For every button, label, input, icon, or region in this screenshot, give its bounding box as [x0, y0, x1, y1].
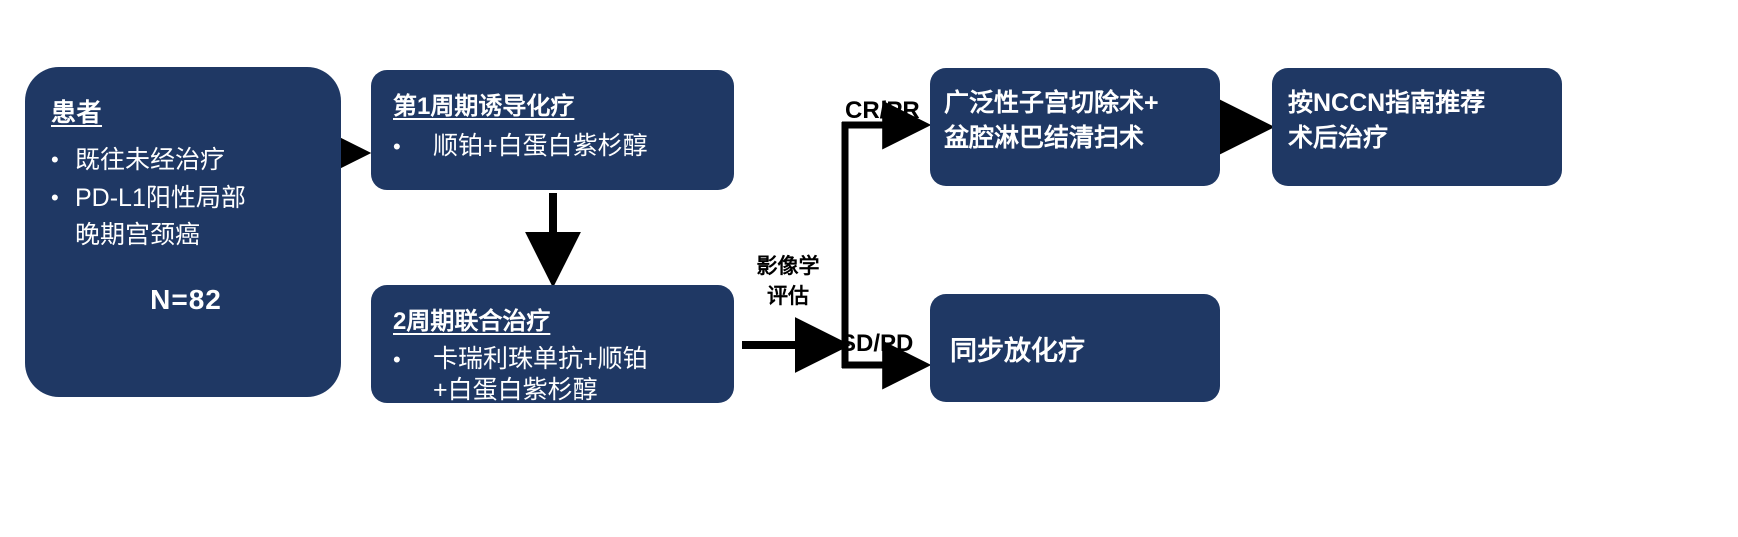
bullet-marker-icon: • — [393, 131, 433, 158]
list-item-label: PD-L1阳性局部 — [75, 181, 321, 217]
node-combination-title: 2周期联合治疗 — [393, 301, 724, 336]
node-patient-title: 患者 — [51, 93, 321, 129]
list-item-label-line1: 卡瑞利珠单抗+顺铂 — [433, 345, 648, 373]
node-patient-criteria-list: • 既往未经治疗 • PD-L1阳性局部 晚期宫颈癌 — [51, 143, 321, 254]
node-nccn-adjuvant-line2: 术后治疗 — [1288, 121, 1552, 156]
list-item-label: 卡瑞利珠单抗+顺铂 +白蛋白紫杉醇 — [433, 344, 724, 405]
list-item: • 既往未经治疗 — [51, 143, 321, 179]
node-patient-population: 患者 • 既往未经治疗 • PD-L1阳性局部 晚期宫颈癌 N=82 — [25, 67, 341, 397]
node-nccn-adjuvant-line1: 按NCCN指南推荐 — [1288, 86, 1552, 121]
node-radical-surgery: 广泛性子宫切除术+ 盆腔淋巴结清扫术 — [930, 68, 1220, 186]
list-item-label: 既往未经治疗 — [75, 143, 321, 179]
list-item: • 顺铂+白蛋白紫杉醇 — [393, 131, 720, 161]
bullet-marker-icon: • — [393, 344, 433, 371]
list-item: • PD-L1阳性局部 — [51, 181, 321, 217]
node-combination-therapy: 2周期联合治疗 • 卡瑞利珠单抗+顺铂 +白蛋白紫杉醇 — [371, 285, 734, 403]
edge-label-sd-pd: SD/PD — [840, 330, 913, 358]
flowchart-canvas: 患者 • 既往未经治疗 • PD-L1阳性局部 晚期宫颈癌 N=82 第1周期诱… — [0, 0, 1738, 537]
edge-label-imaging-line2: 评估 — [746, 282, 830, 312]
node-nccn-adjuvant-therapy: 按NCCN指南推荐 术后治疗 — [1272, 68, 1562, 186]
node-nccn-adjuvant-text: 按NCCN指南推荐 术后治疗 — [1288, 86, 1552, 155]
bullet-marker-icon: • — [51, 181, 75, 209]
list-item-label-line2: +白蛋白紫杉醇 — [433, 375, 724, 406]
node-radical-surgery-text: 广泛性子宫切除术+ 盆腔淋巴结清扫术 — [944, 86, 1210, 155]
list-item: • 卡瑞利珠单抗+顺铂 +白蛋白紫杉醇 — [393, 344, 724, 405]
node-induction-title: 第1周期诱导化疗 — [393, 86, 720, 121]
list-item-label: 顺铂+白蛋白紫杉醇 — [433, 131, 720, 161]
edge-label-imaging-line1: 影像学 — [746, 252, 830, 282]
list-item-label-continued: 晚期宫颈癌 — [51, 218, 321, 254]
node-induction-chemotherapy: 第1周期诱导化疗 • 顺铂+白蛋白紫杉醇 — [371, 70, 734, 190]
edge-label-cr-pr: CR/PR — [845, 97, 920, 125]
node-concurrent-chemoradiation-text: 同步放化疗 — [950, 329, 1085, 368]
edge-label-imaging-assessment: 影像学 评估 — [746, 252, 830, 312]
patient-count-value: N=82 — [51, 284, 321, 316]
node-radical-surgery-line1: 广泛性子宫切除术+ — [944, 86, 1210, 121]
node-radical-surgery-line2: 盆腔淋巴结清扫术 — [944, 121, 1210, 156]
node-concurrent-chemoradiation: 同步放化疗 — [930, 294, 1220, 402]
bullet-marker-icon: • — [51, 143, 75, 171]
